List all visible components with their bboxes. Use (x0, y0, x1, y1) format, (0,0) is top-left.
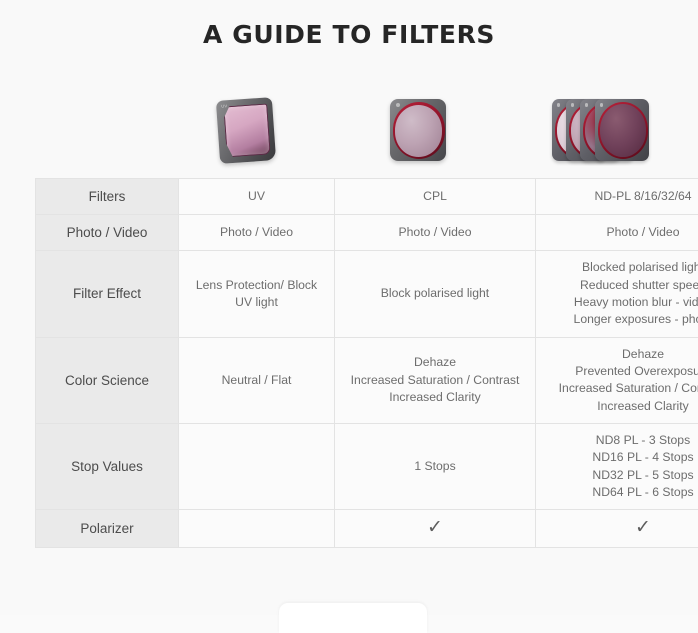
cell-line: Increased Clarity (542, 398, 698, 415)
ndpl-nd32-marker-dot (585, 103, 589, 107)
cell-line: Photo / Video (185, 224, 328, 241)
cell-filter-effect-cpl: Block polarised light (335, 251, 536, 337)
cell-polarizer-uv (179, 510, 335, 547)
row-label-stop-values: Stop Values (36, 423, 179, 509)
cell-stop-values-cpl: 1 Stops (335, 423, 536, 509)
cell-photo-video-cpl: Photo / Video (335, 215, 536, 251)
filters-comparison-table: Filters UV CPL ND-PL 8/16/32/64 (35, 178, 698, 548)
title-bar: A GUIDE TO FILTERS (0, 20, 698, 49)
row-label-photo-video: Photo / Video (36, 215, 179, 251)
cell-line: Block polarised light (341, 285, 529, 302)
cell-lines: Block polarised light (341, 285, 529, 302)
cell-lines: UV (185, 188, 328, 205)
cell-line: ND-PL 8/16/32/64 (542, 188, 698, 205)
cell-line: UV (185, 188, 328, 205)
cell-stop-values-uv (179, 423, 335, 509)
cell-lines: Blocked polarised light Reduced shutter … (542, 259, 698, 328)
cell-lines: 1 Stops (341, 458, 529, 475)
cell-line: Heavy motion blur - video (542, 294, 698, 311)
cell-lines: Neutral / Flat (185, 372, 328, 389)
ndpl-filter-nd64 (595, 99, 649, 161)
uv-filter-icon: UV (216, 97, 276, 164)
cpl-filter-marker-dot (396, 103, 400, 107)
ndpl-nd8-marker-dot (557, 103, 561, 107)
cell-line: ND8 PL - 3 Stops (542, 432, 698, 449)
table-row: Color Science Neutral / Flat Dehaze Incr… (36, 337, 698, 423)
row-label-filter-effect: Filter Effect (36, 251, 179, 337)
cell-filter-effect-uv: Lens Protection/ Block UV light (179, 251, 335, 337)
cell-line: Increased Saturation / Contrast (542, 380, 698, 397)
product-label-spacer (35, 82, 161, 178)
ndpl-nd16-marker-dot (571, 103, 575, 107)
cell-lines: Lens Protection/ Block UV light (185, 277, 328, 312)
ndpl-nd64-marker-dot (600, 103, 604, 107)
product-image-cpl (332, 82, 503, 178)
product-image-ndpl (503, 82, 698, 178)
cell-line: Prevented Overexposure (542, 363, 698, 380)
cell-line: Dehaze (542, 346, 698, 363)
table-row: Photo / Video Photo / Video Photo / Vide… (36, 215, 698, 251)
cell-color-science-uv: Neutral / Flat (179, 337, 335, 423)
row-label-color-science: Color Science (36, 337, 179, 423)
cell-photo-video-ndpl: Photo / Video (536, 215, 698, 251)
cell-line: 1 Stops (341, 458, 529, 475)
cell-color-science-ndpl: Dehaze Prevented Overexposure Increased … (536, 337, 698, 423)
uv-filter-glass (224, 103, 271, 157)
cell-lines: ND8 PL - 3 Stops ND16 PL - 4 Stops ND32 … (542, 432, 698, 501)
cell-line: Lens Protection/ Block (185, 277, 328, 294)
cell-line: ND16 PL - 4 Stops (542, 449, 698, 466)
cell-line: Photo / Video (542, 224, 698, 241)
page-title: A GUIDE TO FILTERS (0, 20, 698, 49)
table-row: Filters UV CPL ND-PL 8/16/32/64 (36, 179, 698, 215)
cell-lines: ND-PL 8/16/32/64 (542, 188, 698, 205)
cell-polarizer-cpl: ✓ (335, 510, 536, 547)
cell-lines: Photo / Video (185, 224, 328, 241)
cell-line: CPL (341, 188, 529, 205)
table-row: Stop Values 1 Stops ND8 PL - 3 Stops ND1… (36, 423, 698, 509)
ndpl-filter-stack-icon (552, 99, 650, 161)
cell-lines: Photo / Video (341, 224, 529, 241)
cell-line: Increased Clarity (341, 389, 529, 406)
cell-line: Dehaze (341, 354, 529, 371)
cell-filters-ndpl: ND-PL 8/16/32/64 (536, 179, 698, 215)
product-images-row: UV (35, 82, 698, 178)
cell-color-science-cpl: Dehaze Increased Saturation / Contrast I… (335, 337, 536, 423)
cell-line: Neutral / Flat (185, 372, 328, 389)
cell-lines: Photo / Video (542, 224, 698, 241)
cell-line: Longer exposures - photo (542, 311, 698, 328)
cell-lines: Dehaze Increased Saturation / Contrast I… (341, 354, 529, 406)
cell-lines: CPL (341, 188, 529, 205)
cell-polarizer-ndpl: ✓ (536, 510, 698, 547)
check-icon: ✓ (635, 518, 651, 537)
cell-line: ND32 PL - 5 Stops (542, 467, 698, 484)
row-label-polarizer: Polarizer (36, 510, 179, 547)
table-row: Filter Effect Lens Protection/ Block UV … (36, 251, 698, 337)
ndpl-nd64-glass (600, 104, 646, 157)
table-row: Polarizer ✓ ✓ (36, 510, 698, 547)
cell-filter-effect-ndpl: Blocked polarised light Reduced shutter … (536, 251, 698, 337)
cell-filters-uv: UV (179, 179, 335, 215)
cpl-filter-glass (395, 105, 442, 157)
cell-line: ND64 PL - 6 Stops (542, 484, 698, 501)
row-label-filters: Filters (36, 179, 179, 215)
cell-line: Reduced shutter speed (542, 277, 698, 294)
product-image-uv: UV (161, 82, 332, 178)
cell-line: Increased Saturation / Contrast (341, 372, 529, 389)
cell-lines: Dehaze Prevented Overexposure Increased … (542, 346, 698, 415)
cpl-filter-icon (390, 99, 446, 161)
cell-stop-values-ndpl: ND8 PL - 3 Stops ND16 PL - 4 Stops ND32 … (536, 423, 698, 509)
filters-guide-page: A GUIDE TO FILTERS UV (0, 0, 698, 615)
bottom-partial-card (279, 603, 427, 633)
cell-photo-video-uv: Photo / Video (179, 215, 335, 251)
uv-filter-engraving: UV (222, 103, 229, 108)
table-body: Filters UV CPL ND-PL 8/16/32/64 (36, 179, 698, 548)
cell-line: UV light (185, 294, 328, 311)
check-icon: ✓ (427, 518, 443, 537)
cell-line: Photo / Video (341, 224, 529, 241)
cell-line: Blocked polarised light (542, 259, 698, 276)
cell-filters-cpl: CPL (335, 179, 536, 215)
